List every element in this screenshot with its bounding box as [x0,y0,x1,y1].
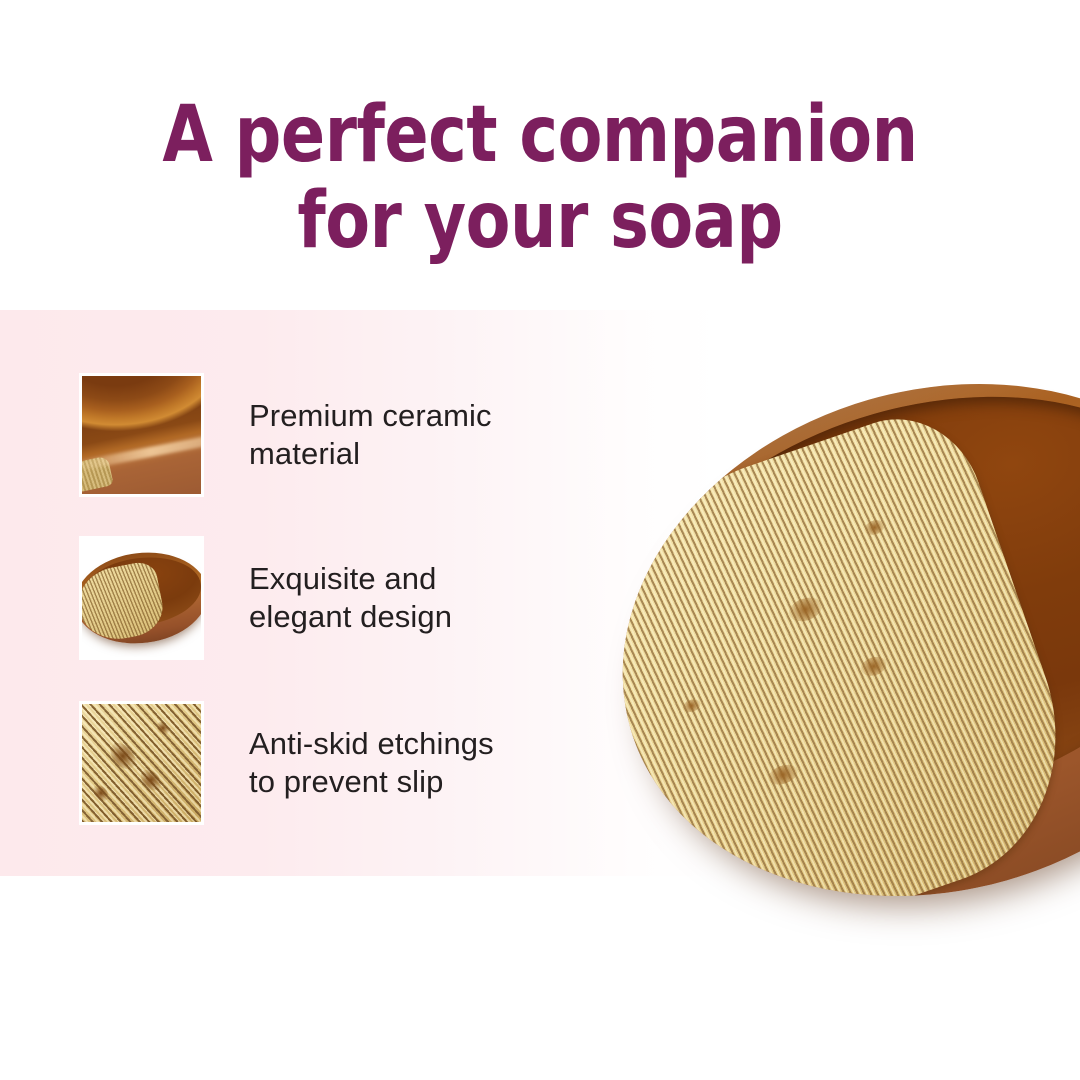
feature-label: Premium ceramic material [249,397,492,473]
feature-thumbnail-wrapper [79,701,204,825]
page-title: A perfect companion for your soap [38,92,1042,264]
pad-blemish [786,593,825,625]
oval-ceramic-soap-dish [561,330,1080,950]
oval-soap-dish-thumbnail [82,539,201,657]
groove-blemish [137,766,165,795]
etched-grooves-macro-thumbnail [82,704,201,822]
feature-item-premium-ceramic: Premium ceramic material [79,373,639,497]
groove-blemish [154,719,171,736]
pad-blemish [766,762,800,789]
groove-blemish [106,739,141,775]
feature-label: Anti-skid etchings to prevent slip [249,725,494,801]
ceramic-rim-closeup-thumbnail [82,376,201,494]
pad-blemish [863,518,886,538]
feature-item-anti-skid: Anti-skid etchings to prevent slip [79,701,639,825]
feature-label: Exquisite and elegant design [249,560,452,636]
groove-blemish [90,782,111,803]
feature-item-elegant-design: Exquisite and elegant design [79,536,639,660]
product-photo [560,330,1080,950]
feature-thumbnail-wrapper [79,536,204,660]
pad-blemish [858,654,888,679]
feature-thumbnail-wrapper [79,373,204,497]
pad-blemish [682,697,703,714]
dish-shape [82,545,201,650]
